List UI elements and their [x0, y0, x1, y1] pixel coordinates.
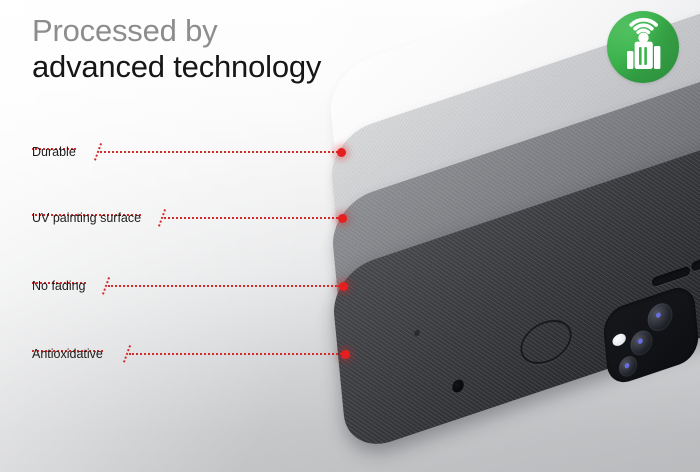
fingerprint-cutout [518, 313, 573, 371]
camera-lens [645, 232, 672, 267]
fingerprint-cutout [517, 245, 572, 303]
case-edge [340, 208, 700, 374]
camera-cutout [600, 146, 698, 252]
volume-button-cutout [652, 266, 691, 288]
headline-line-1: Processed by [32, 13, 321, 49]
callout-leader-line [164, 217, 338, 219]
brand-logo-badge [607, 11, 679, 83]
power-button-cutout [689, 121, 700, 136]
lens-glint [656, 312, 661, 319]
signal-bars-logo-icon [607, 11, 679, 83]
headphone-jack-cutout [452, 378, 465, 394]
camera-lens [627, 192, 651, 223]
power-button-cutout [691, 257, 700, 272]
case-body [329, 57, 700, 388]
callout-label: Durable [32, 145, 76, 150]
lens-glint [655, 244, 660, 251]
camera-lens [646, 300, 673, 335]
lens-glint [622, 160, 627, 167]
callout-leader-line [100, 151, 338, 153]
callout-label: UV painting surface [32, 211, 141, 216]
lens-glint [623, 226, 628, 233]
volume-button-cutout [650, 130, 689, 152]
fingerprint-cutout [516, 177, 571, 235]
camera-flash [611, 264, 625, 280]
headline-line-2: advanced technology [32, 49, 321, 85]
callout-endpoint-dot [337, 148, 346, 157]
camera-cutout [599, 80, 697, 186]
camera-lens [617, 286, 637, 311]
lens-glint [636, 202, 641, 209]
lens-glint [635, 136, 640, 143]
lens-glint [638, 338, 643, 345]
lens-glint [637, 270, 642, 277]
lens-glint [654, 176, 659, 183]
callout-label: No fading [32, 279, 86, 284]
camera-lens [618, 354, 638, 379]
power-button-cutout [690, 189, 700, 204]
lens-glint [625, 362, 630, 369]
camera-lens [644, 164, 671, 199]
case-edge [339, 140, 700, 306]
fingerprint-cutout [515, 111, 570, 169]
product-feature-banner: Processed by advanced technology Durable [0, 0, 700, 472]
callout-label: Antioxidative [32, 347, 103, 352]
camera-lens [616, 218, 636, 243]
camera-lens [629, 328, 653, 359]
volume-button-cutout [651, 198, 690, 220]
callout-endpoint-dot [339, 282, 348, 291]
microphone-hole [414, 329, 420, 337]
camera-lens [615, 152, 635, 177]
case-edge [338, 72, 700, 238]
camera-cutout [602, 282, 700, 388]
camera-flash [610, 196, 624, 212]
camera-lens [628, 260, 652, 291]
camera-lens [626, 126, 650, 157]
camera-flash [612, 332, 626, 348]
case-body [330, 125, 700, 456]
page-title: Processed by advanced technology [32, 13, 321, 85]
callout-leader-line [129, 353, 342, 355]
callout-endpoint-dot [338, 214, 347, 223]
camera-flash [609, 130, 623, 146]
lens-glint [624, 294, 629, 301]
camera-cutout [601, 214, 699, 320]
lens-glint [653, 110, 658, 117]
callout-leader-line [108, 285, 340, 287]
callout-endpoint-dot [341, 350, 350, 359]
camera-lens [643, 98, 670, 133]
power-button-cutout [688, 55, 700, 70]
